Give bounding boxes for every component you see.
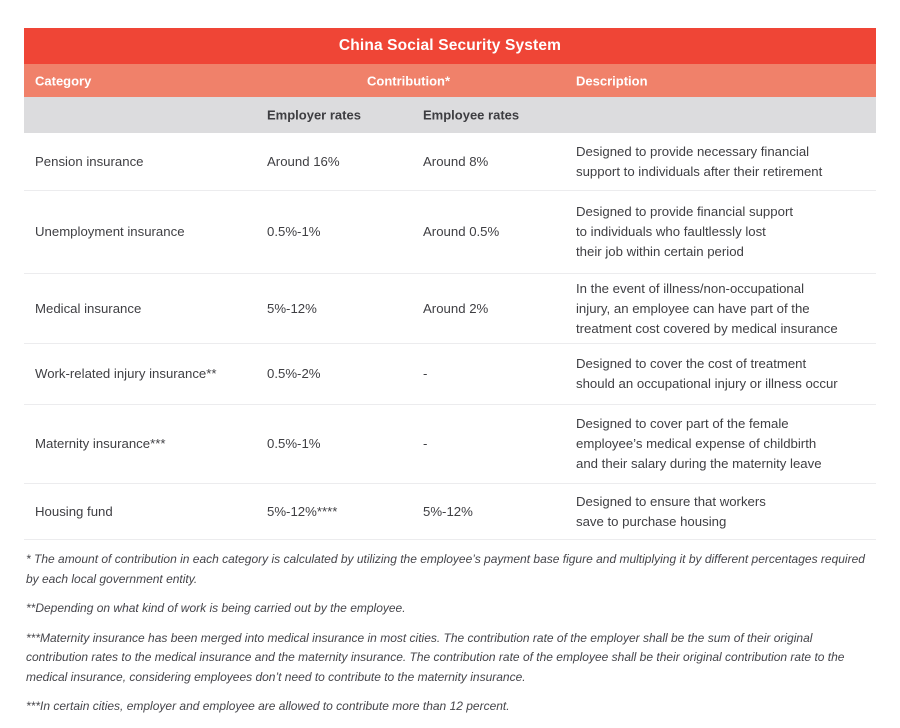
cell-description: Designed to provide necessary financial … [576, 142, 876, 182]
cell-category: Housing fund [24, 502, 267, 522]
table-title-band: China Social Security System [24, 28, 876, 64]
cell-employer-rate: Around 16% [267, 152, 423, 172]
cell-category: Unemployment insurance [24, 222, 267, 242]
cell-description: Designed to provide financial support to… [576, 202, 876, 262]
sub-header-employee-rates: Employee rates [423, 108, 519, 123]
table-title: China Social Security System [339, 37, 561, 55]
table-row: Medical insurance 5%-12% Around 2% In th… [24, 274, 876, 344]
cell-description: Designed to cover part of the female emp… [576, 414, 876, 474]
column-header-description: Description [576, 73, 648, 88]
cell-category: Maternity insurance*** [24, 434, 267, 454]
cell-employee-rate: - [423, 434, 576, 454]
cell-description: In the event of illness/non-occupational… [576, 279, 876, 339]
cell-category: Pension insurance [24, 152, 267, 172]
cell-description: Designed to cover the cost of treatment … [576, 354, 876, 394]
table-row: Housing fund 5%-12%**** 5%-12% Designed … [24, 484, 876, 540]
cell-employee-rate: Around 0.5% [423, 222, 576, 242]
footnote-single-asterisk: * The amount of contribution in each cat… [26, 550, 866, 589]
sub-header-row: Employer rates Employee rates [24, 97, 876, 133]
cell-employer-rate: 0.5%-1% [267, 222, 423, 242]
column-header-contribution: Contribution* [367, 73, 450, 88]
column-header-category: Category [35, 73, 91, 88]
column-header-row: Category Contribution* Description [24, 64, 876, 97]
cell-employee-rate: 5%-12% [423, 502, 576, 522]
table-row: Maternity insurance*** 0.5%-1% - Designe… [24, 405, 876, 484]
social-security-table-page: China Social Security System Category Co… [0, 0, 900, 728]
table-body: Pension insurance Around 16% Around 8% D… [24, 133, 876, 540]
footnote-double-asterisk: **Depending on what kind of work is bein… [26, 599, 866, 619]
cell-employee-rate: Around 8% [423, 152, 576, 172]
cell-employer-rate: 5%-12%**** [267, 502, 423, 522]
sub-header-employer-rates: Employer rates [267, 108, 361, 123]
footnote-quad-asterisk: ***In certain cities, employer and emplo… [26, 697, 866, 717]
cell-employee-rate: - [423, 364, 576, 384]
cell-employer-rate: 0.5%-1% [267, 434, 423, 454]
table-row: Unemployment insurance 0.5%-1% Around 0.… [24, 191, 876, 274]
cell-employee-rate: Around 2% [423, 299, 576, 319]
footnote-triple-asterisk: ***Maternity insurance has been merged i… [26, 629, 866, 688]
cell-employer-rate: 0.5%-2% [267, 364, 423, 384]
cell-employer-rate: 5%-12% [267, 299, 423, 319]
cell-category: Medical insurance [24, 299, 267, 319]
table-row: Work-related injury insurance** 0.5%-2% … [24, 344, 876, 405]
table-row: Pension insurance Around 16% Around 8% D… [24, 133, 876, 191]
footnotes-section: * The amount of contribution in each cat… [26, 550, 866, 717]
cell-category: Work-related injury insurance** [24, 364, 267, 384]
china-social-security-table: China Social Security System Category Co… [24, 28, 876, 540]
cell-description: Designed to ensure that workers save to … [576, 492, 876, 532]
